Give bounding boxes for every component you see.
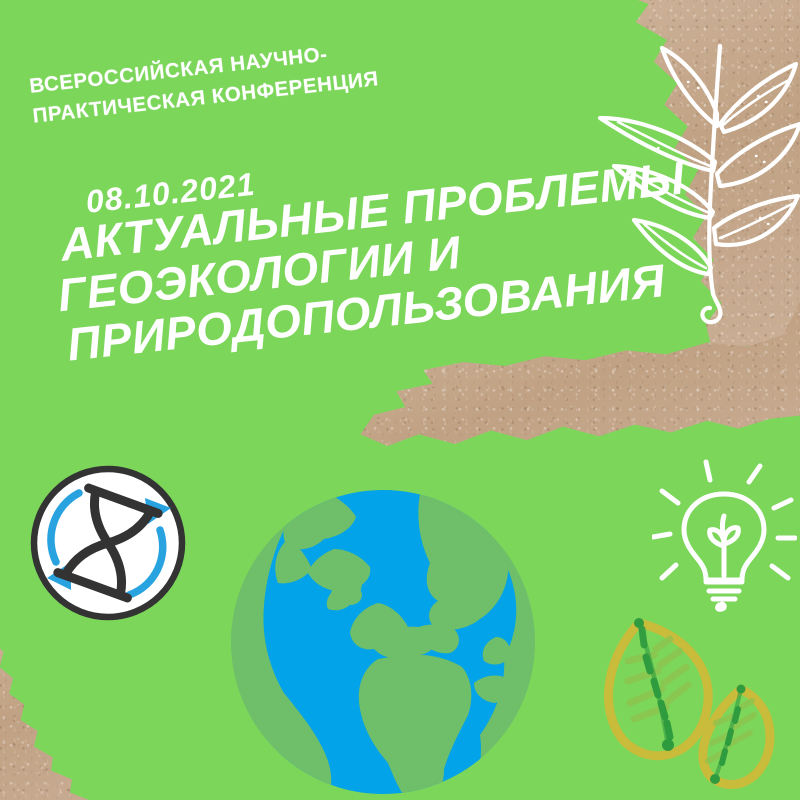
recycle-hourglass-icon [27, 462, 189, 624]
conference-poster: ВСЕРОССИЙСКАЯ НАУЧНО- ПРАКТИЧЕСКАЯ КОНФЕ… [0, 0, 800, 800]
globe-icon [228, 487, 538, 797]
lightbulb-sprout-icon [652, 458, 797, 613]
leaves-icon [598, 605, 798, 800]
conference-kicker-text: ВСЕРОССИЙСКАЯ НАУЧНО- ПРАКТИЧЕСКАЯ КОНФЕ… [28, 34, 380, 131]
